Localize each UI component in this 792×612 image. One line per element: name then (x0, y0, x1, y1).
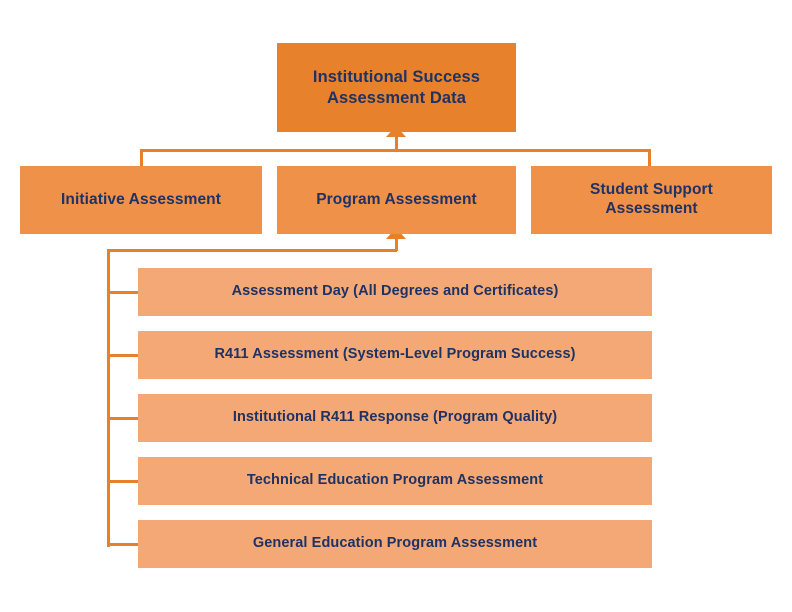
node-assessment-day-label: Assessment Day (All Degrees and Certific… (232, 283, 559, 301)
node-general-education-program-assessment[interactable]: General Education Program Assessment (138, 520, 652, 568)
node-r411-assessment-label: R411 Assessment (System-Level Program Su… (214, 346, 575, 364)
node-institutional-r411-response[interactable]: Institutional R411 Response (Program Qua… (138, 394, 652, 442)
node-student-support-label-line2: Assessment (605, 200, 697, 217)
node-technical-education-program-assessment[interactable]: Technical Education Program Assessment (138, 457, 652, 505)
connector-spine-top (107, 249, 397, 252)
connector-stub-leaf-2 (107, 354, 140, 357)
node-r411-assessment[interactable]: R411 Assessment (System-Level Program Su… (138, 331, 652, 379)
node-initiative-assessment[interactable]: Initiative Assessment (20, 166, 262, 234)
connector-stub-leaf-1 (107, 291, 140, 294)
node-root-label: Institutional Success Assessment Data (313, 67, 480, 107)
node-student-support-assessment-label: Student Support Assessment (590, 181, 713, 219)
node-institutional-success-assessment-data[interactable]: Institutional Success Assessment Data (277, 43, 516, 132)
node-student-support-label-line1: Student Support (590, 181, 713, 198)
node-root-label-line2: Assessment Data (327, 89, 466, 107)
node-program-assessment-label: Program Assessment (316, 191, 477, 210)
node-student-support-assessment[interactable]: Student Support Assessment (531, 166, 772, 234)
connector-stub-leaf-5 (107, 543, 140, 546)
connector-stub-leaf-4 (107, 480, 140, 483)
node-initiative-assessment-label: Initiative Assessment (61, 191, 221, 210)
node-institutional-r411-response-label: Institutional R411 Response (Program Qua… (233, 409, 557, 427)
node-general-education-program-assessment-label: General Education Program Assessment (253, 535, 537, 553)
node-root-label-line1: Institutional Success (313, 68, 480, 86)
node-program-assessment[interactable]: Program Assessment (277, 166, 516, 234)
node-technical-education-program-assessment-label: Technical Education Program Assessment (247, 472, 543, 490)
node-assessment-day[interactable]: Assessment Day (All Degrees and Certific… (138, 268, 652, 316)
connector-stub-leaf-3 (107, 417, 140, 420)
org-chart-diagram: Institutional Success Assessment Data In… (0, 0, 792, 612)
